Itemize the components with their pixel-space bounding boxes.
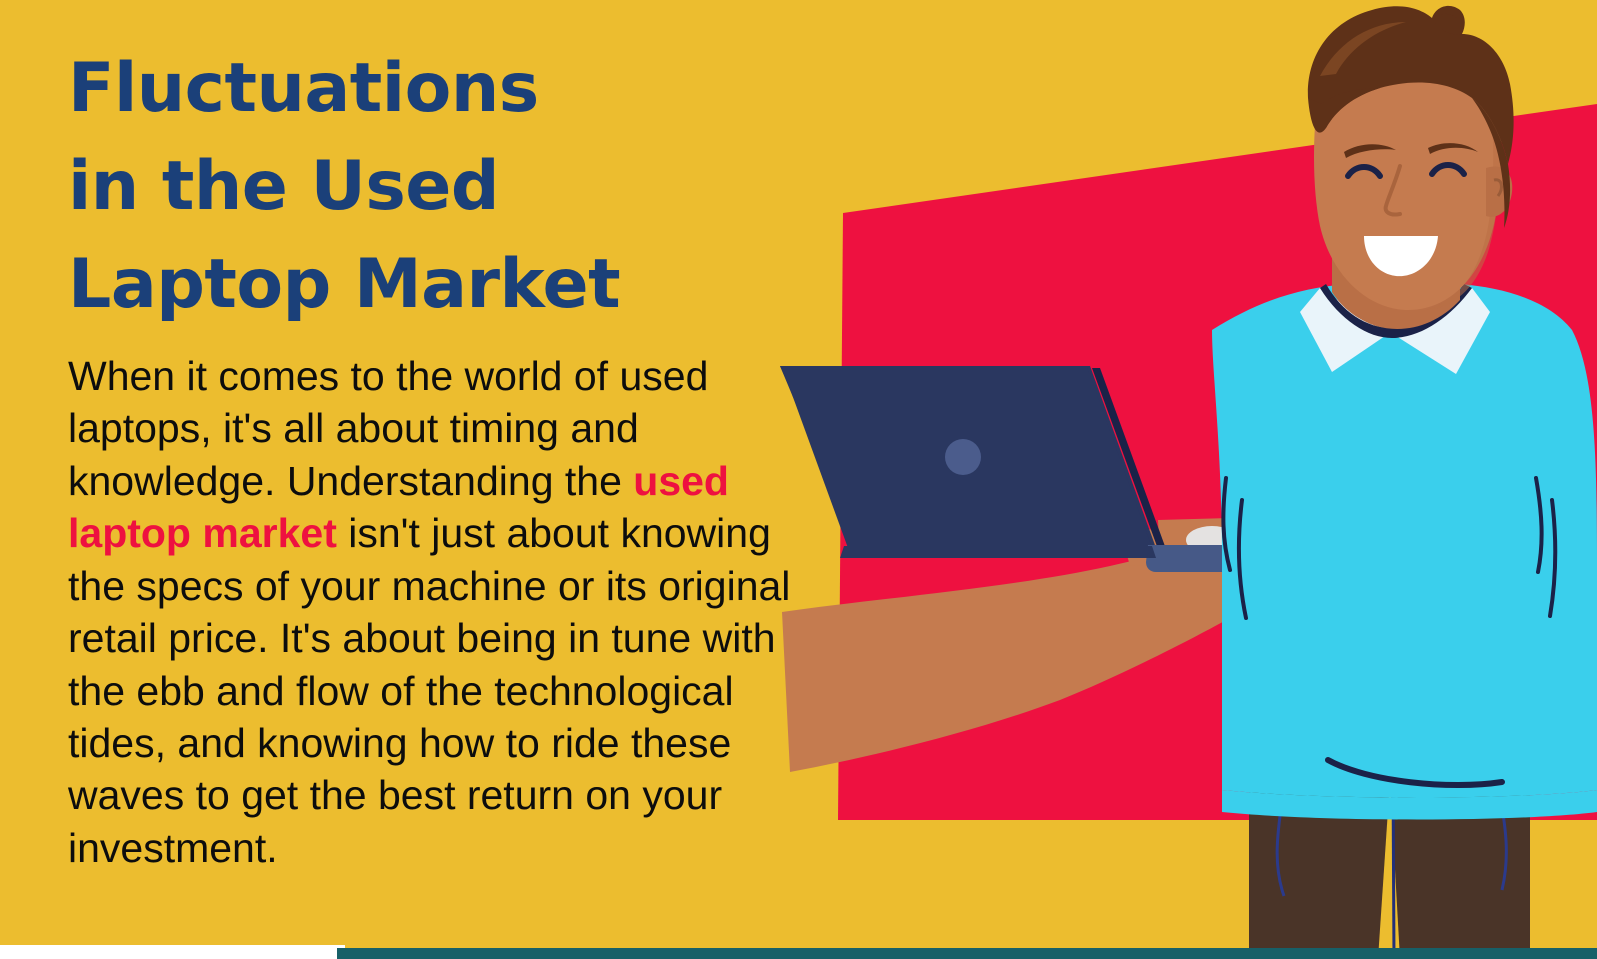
white-edge-strip bbox=[0, 945, 345, 959]
man-holding-laptop-illustration bbox=[760, 0, 1597, 959]
text-column: Fluctuations in the Used Laptop Market W… bbox=[68, 40, 798, 874]
page-title: Fluctuations in the Used Laptop Market bbox=[68, 40, 798, 334]
teal-edge-strip bbox=[337, 948, 1597, 959]
body-paragraph: When it comes to the world of used lapto… bbox=[68, 350, 794, 875]
poster-canvas: Fluctuations in the Used Laptop Market W… bbox=[0, 0, 1597, 959]
body-text-after: isn't just about knowing the specs of yo… bbox=[68, 510, 790, 871]
body-text-before: When it comes to the world of used lapto… bbox=[68, 353, 708, 504]
laptop-logo bbox=[945, 439, 981, 475]
